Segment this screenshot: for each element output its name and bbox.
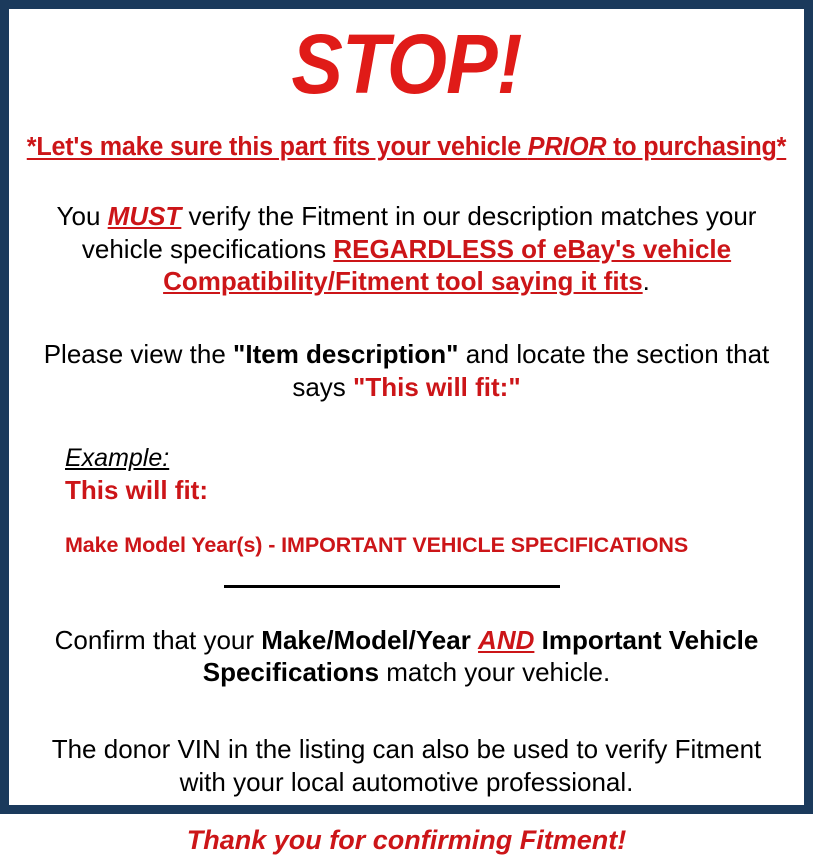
example-spec-line: Make Model Year(s) - IMPORTANT VEHICLE S… — [65, 533, 794, 558]
must-emphasis: MUST — [108, 201, 182, 231]
item-description-paragraph: Please view the "Item description" and l… — [19, 338, 794, 404]
fitment-notice-body: STOP! *Let's make sure this part fits yo… — [19, 25, 794, 817]
fitment-notice-frame: STOP! *Let's make sure this part fits yo… — [0, 0, 813, 814]
confirm-seg-1: Confirm that your — [55, 625, 262, 655]
example-block: Example: This will fit: Make Model Year(… — [19, 444, 794, 558]
stop-headline: STOP! — [50, 25, 763, 105]
donor-vin-paragraph: The donor VIN in the listing can also be… — [19, 733, 794, 799]
thank-you-line: Thank you for confirming Fitment! — [19, 825, 794, 856]
subtitle-text-after: to purchasing* — [606, 133, 786, 161]
subtitle-warning-line: *Let's make sure this part fits your veh… — [25, 133, 788, 162]
this-will-fit-quote: "This will fit:" — [353, 372, 521, 402]
make-model-year-emphasis: Make/Model/Year — [261, 625, 478, 655]
must-seg-1: You — [57, 201, 108, 231]
and-emphasis: AND — [478, 625, 534, 655]
confirm-seg-2: match your vehicle. — [379, 657, 610, 687]
example-label: Example: — [65, 444, 169, 473]
item-description-emphasis: "Item description" — [233, 339, 458, 369]
example-fit-heading: This will fit: — [65, 475, 794, 506]
must-seg-3: . — [643, 266, 650, 296]
confirm-paragraph: Confirm that your Make/Model/Year AND Im… — [19, 624, 794, 690]
must-verify-paragraph: You MUST verify the Fitment in our descr… — [19, 200, 794, 298]
view-seg-1: Please view the — [44, 339, 233, 369]
subtitle-emphasis-prior: PRIOR — [528, 133, 607, 161]
section-divider — [224, 585, 560, 588]
section-divider-wrap — [19, 584, 794, 588]
subtitle-text-before: *Let's make sure this part fits your veh… — [27, 133, 528, 161]
